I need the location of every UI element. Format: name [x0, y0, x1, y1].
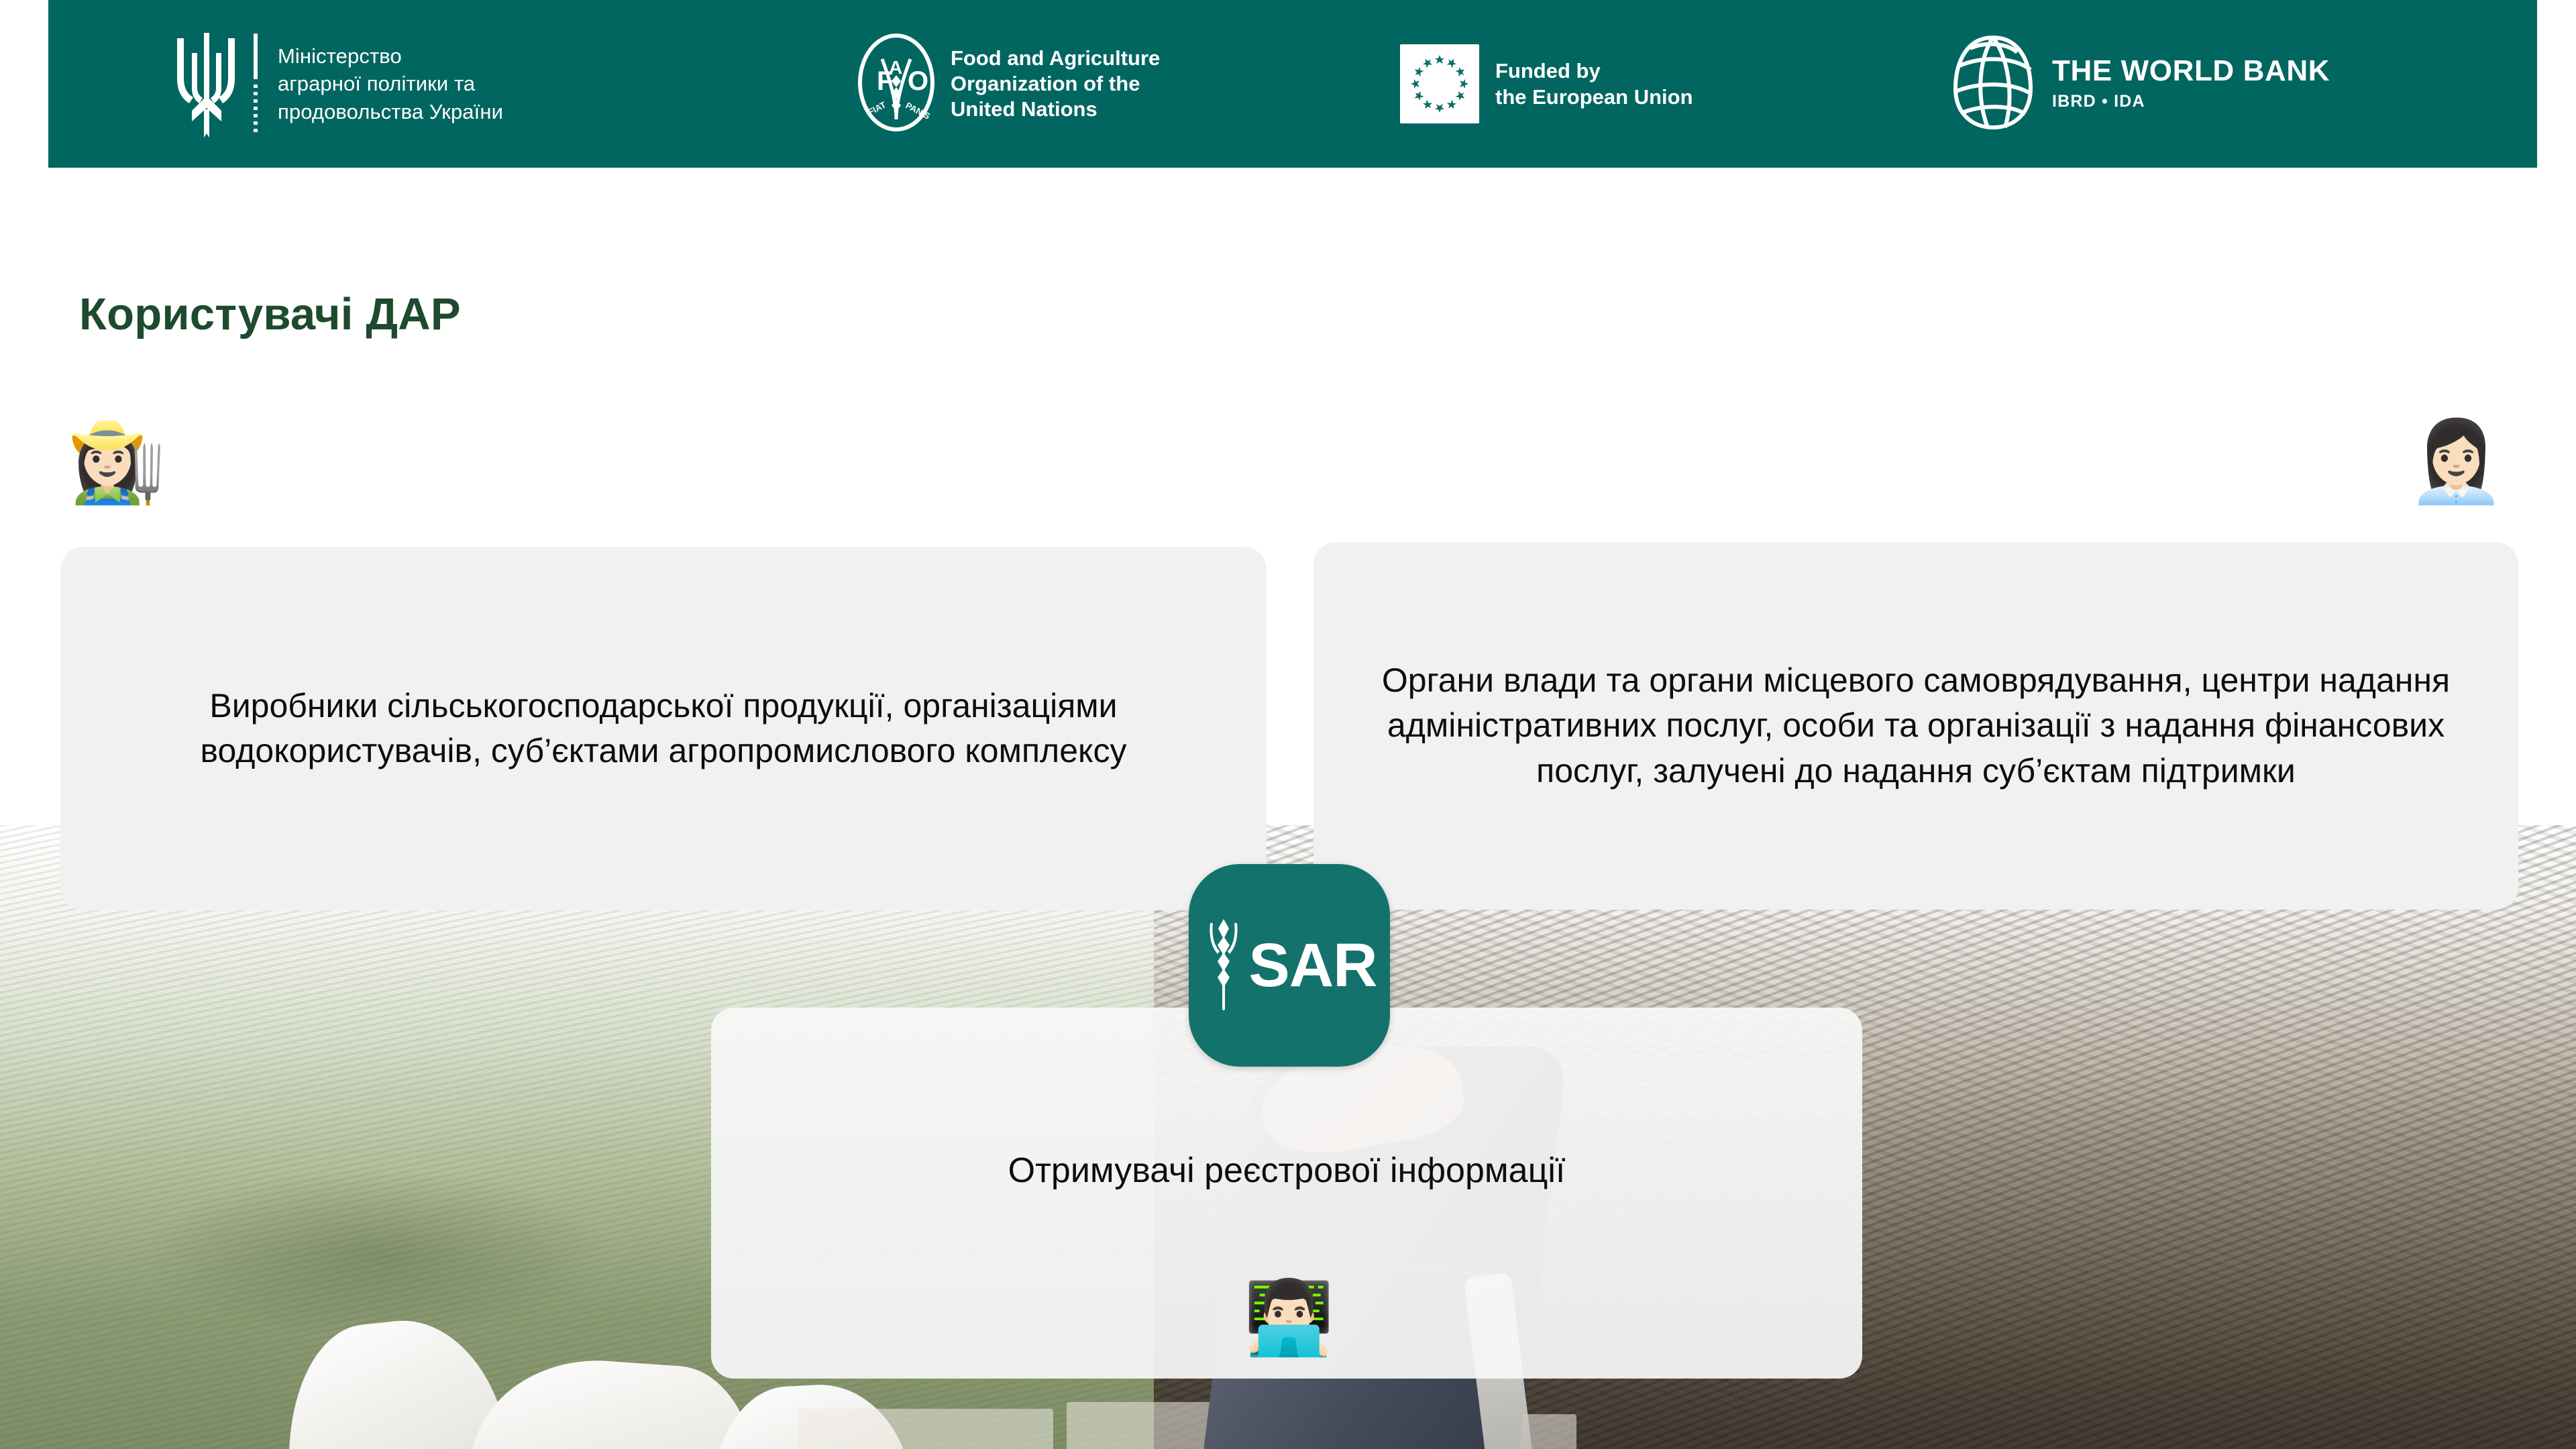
logo-world-bank: THE WORLD BANK IBRD • IDA: [1950, 34, 2330, 135]
wheat-stalk-icon: [1201, 914, 1246, 1018]
sar-logo-label: SAR: [1248, 934, 1377, 996]
sar-logo-badge: SAR: [1189, 864, 1390, 1067]
svg-text:A: A: [889, 57, 902, 78]
eu-flag-icon: [1400, 44, 1479, 123]
card-authorities: Органи влади та органи місцевого самовря…: [1313, 542, 2518, 910]
svg-text:FIAT: FIAT: [866, 99, 888, 117]
logo-world-bank-label-group: THE WORLD BANK IBRD • IDA: [2052, 56, 2330, 111]
logo-divider: [252, 34, 259, 134]
woman-office-worker-emoji: 👩🏻‍💼: [2407, 423, 2506, 502]
logo-ministry-of-agrarian-policy: Міністерство аграрної політики та продов…: [176, 30, 503, 138]
card-producers: Виробники сільськогосподарської продукці…: [60, 547, 1267, 910]
page-title: Користувачі ДАР: [79, 288, 461, 340]
logo-fao: F O A FIAT PANIS Food and Agriculture Or…: [857, 32, 1160, 136]
svg-text:O: O: [908, 66, 928, 96]
logo-fao-label: Food and Agriculture Organization of the…: [951, 46, 1160, 121]
slide-canvas: Міністерство аграрної політики та продов…: [0, 0, 2576, 1449]
partner-logo-bar: Міністерство аграрної політики та продов…: [48, 0, 2537, 168]
logo-ministry-label: Міністерство аграрної політики та продов…: [278, 42, 503, 125]
fao-emblem-icon: F O A FIAT PANIS: [857, 32, 936, 136]
card-producers-text: Виробники сільськогосподарської продукці…: [60, 684, 1267, 774]
man-technologist-emoji: 👨🏻‍💻: [1244, 1281, 1334, 1354]
logo-world-bank-label: THE WORLD BANK: [2052, 54, 2330, 87]
card-authorities-text: Органи влади та органи місцевого самовря…: [1313, 658, 2518, 794]
ukraine-trident-icon: [176, 30, 237, 138]
logo-eu-label: Funded by the European Union: [1495, 58, 1693, 110]
card-registry-recipients-text: Отримувачі реєстрової інформації: [969, 1147, 1605, 1194]
logo-european-union: Funded by the European Union: [1400, 44, 1693, 123]
logo-world-bank-sublabel: IBRD • IDA: [2052, 92, 2330, 111]
woman-farmer-emoji: 👩🏻‍🌾: [67, 423, 166, 502]
world-bank-globe-icon: [1950, 34, 2036, 135]
